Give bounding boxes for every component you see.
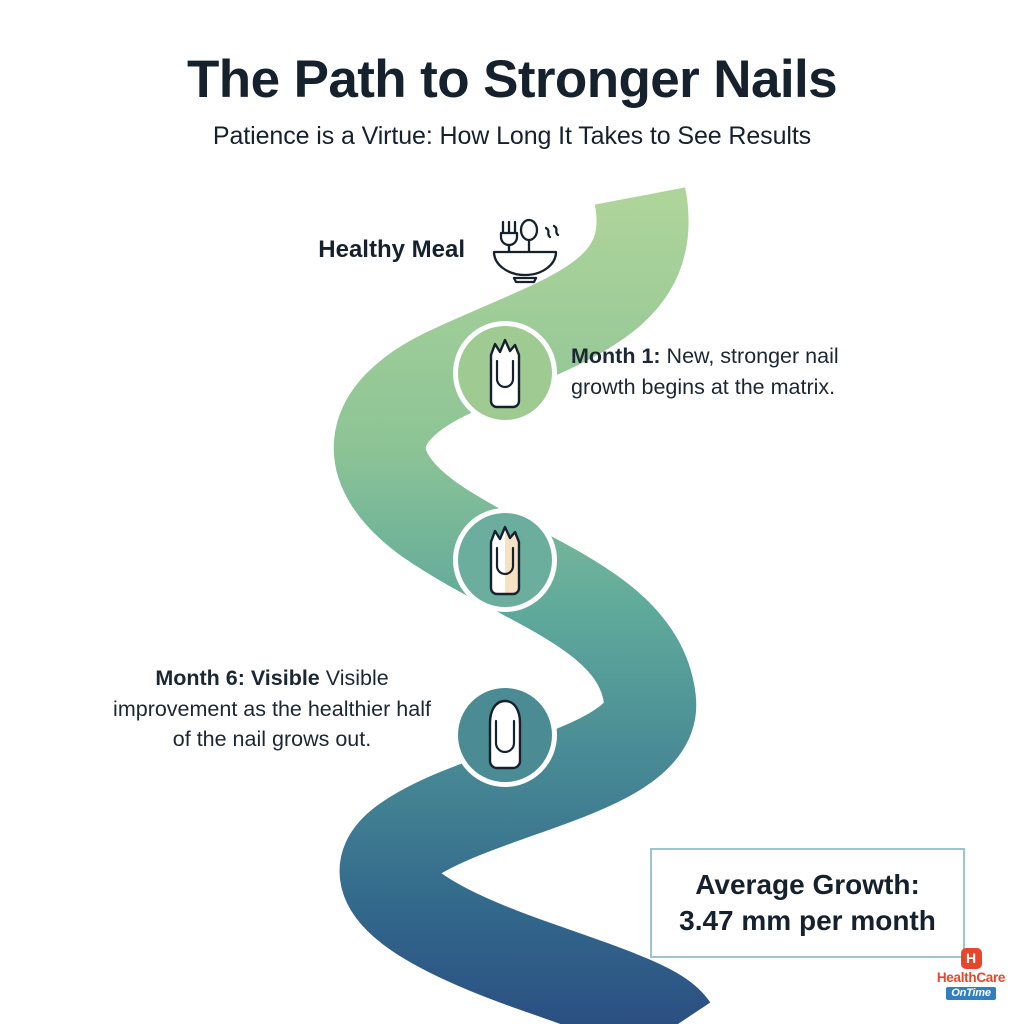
- milestone-month-1[interactable]: [453, 321, 557, 425]
- logo-tagline: OnTime: [946, 987, 996, 1000]
- brand-logo[interactable]: H HealthCare OnTime: [925, 948, 1017, 1000]
- stat-label: Average Growth:: [695, 867, 920, 903]
- average-growth-stat-box: Average Growth: 3.47 mm per month: [650, 848, 965, 958]
- caption-month-1-heading: Month 1:: [571, 344, 661, 368]
- stat-value: 3.47 mm per month: [679, 903, 936, 939]
- milestone-month-3[interactable]: [453, 508, 557, 612]
- logo-mark-icon: H: [961, 948, 982, 969]
- caption-month-6-heading: Month 6: Visible: [155, 666, 319, 690]
- broken-nail-icon: [479, 335, 531, 411]
- caption-month-1: Month 1: New, stronger nail growth begin…: [571, 341, 901, 402]
- half-grown-nail-icon: [479, 522, 531, 598]
- healthy-nail-icon: [479, 697, 531, 773]
- meal-bowl-icon: [487, 214, 565, 286]
- healthy-meal-label: Healthy Meal: [318, 236, 465, 264]
- milestone-month-6[interactable]: [453, 683, 557, 787]
- infographic-canvas: The Path to Stronger Nails Patience is a…: [0, 0, 1024, 1024]
- logo-wordmark: HealthCare: [937, 971, 1005, 986]
- journey-start-node: Healthy Meal: [255, 212, 565, 288]
- caption-month-6: Month 6: Visible Visible improvement as …: [104, 663, 440, 755]
